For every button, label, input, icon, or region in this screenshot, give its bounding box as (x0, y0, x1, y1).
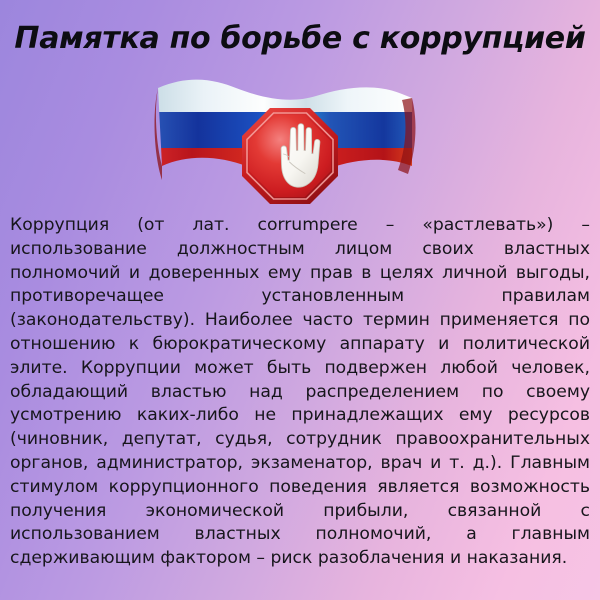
flag-stop-graphic (150, 70, 450, 210)
body-text-block: Коррупция (от лат. corrumpere – «растлев… (10, 214, 590, 571)
title-bar: Памятка по борьбе с коррупцией (0, 22, 600, 57)
corruption-definition-paragraph: Коррупция (от лат. corrumpere – «растлев… (10, 214, 590, 571)
page-title: Памятка по борьбе с коррупцией (0, 22, 600, 57)
poster-canvas: Памятка по борьбе с коррупцией (0, 0, 600, 600)
emblem-illustration (0, 70, 600, 210)
stop-sign-icon (242, 108, 338, 204)
